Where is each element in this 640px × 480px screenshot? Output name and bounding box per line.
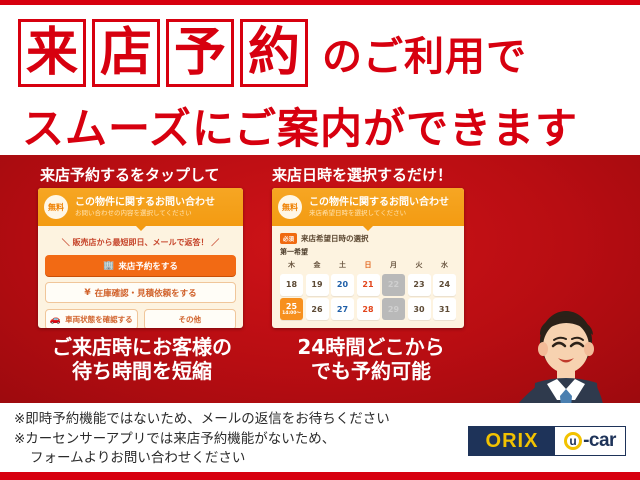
inquiry-header-title: この物件に関するお問い合わせ	[75, 197, 215, 209]
calendar-day-cell[interactable]: 2514:00～	[280, 298, 303, 320]
calendar-day-cell: 29	[382, 298, 405, 320]
calendar-grid[interactable]: 木金土日月火水181920212223242514:00～26272829303…	[280, 260, 456, 320]
calendar-day-number: 29	[388, 305, 399, 314]
calendar-day-number: 26	[311, 305, 322, 314]
car-icon: 🚗	[50, 315, 61, 325]
stock-quote-button[interactable]: ¥ 在庫確認・見積依頼をする	[45, 282, 236, 303]
phone-mockup-calendar: 無料 この物件に関するお問い合わせ 来店希望日時を選択してください 必須 来店希…	[272, 188, 464, 328]
other-label: その他	[179, 314, 202, 325]
hero-headline-tail: のご利用で	[322, 24, 527, 82]
calendar-day-cell[interactable]: 23	[408, 274, 431, 296]
caption-left-line2: 待ち時間を短縮	[22, 359, 262, 383]
calendar-day-cell[interactable]: 26	[306, 298, 329, 320]
caption-left: ご来店時にお客様の 待ち時間を短縮	[22, 335, 262, 384]
orix-wordmark: ORIX	[486, 430, 539, 453]
footer-notes: ※即時予約機能ではないため、メールの返信をお待ちください ※カーセンサーアプリで…	[14, 410, 390, 469]
calendar-day-cell: 22	[382, 274, 405, 296]
calendar-weekday-header: 土	[331, 260, 354, 271]
header-notch	[362, 225, 374, 231]
inquiry-card-header: 無料 この物件に関するお問い合わせ お問い合わせの内容を選択してください	[38, 188, 243, 226]
kanji-box-2: 店	[92, 19, 160, 87]
calendar-day-number: 18	[286, 280, 297, 289]
free-badge: 無料	[278, 195, 302, 219]
calendar-day-time: 14:00～	[282, 312, 301, 317]
caption-right-line2: でも予約可能	[266, 359, 476, 383]
advertisement-banner: 来 店 予 約 のご利用で スムーズにご案内ができます 来店予約するをタップして…	[0, 0, 640, 480]
vehicle-condition-label: 車両状態を確認する	[65, 314, 133, 325]
calendar-card-header: 無料 この物件に関するお問い合わせ 来店希望日時を選択してください	[272, 188, 464, 226]
free-badge: 無料	[44, 195, 68, 219]
kanji-box-1: 来	[18, 19, 86, 87]
red-feature-panel: 来店予約するをタップして 来店日時を選択するだけ！ 無料 この物件に関するお問い…	[0, 155, 640, 403]
calendar-day-cell[interactable]: 18	[280, 274, 303, 296]
reserve-visit-button[interactable]: 🏢 来店予約をする	[45, 255, 236, 276]
calendar-day-number: 21	[362, 280, 373, 289]
ucar-logo-box: u -car	[555, 427, 625, 455]
panel-heading-left: 来店予約するをタップして	[40, 164, 220, 185]
inquiry-header-subtitle: お問い合わせの内容を選択してください	[75, 209, 215, 217]
reserve-visit-label: 来店予約をする	[118, 260, 178, 272]
calendar-weekday-header: 日	[357, 260, 380, 271]
calendar-day-cell[interactable]: 19	[306, 274, 329, 296]
orix-ucar-logo: ORIX u -car	[468, 426, 626, 456]
car-wordmark: -car	[583, 430, 616, 452]
vehicle-condition-button[interactable]: 🚗 車両状態を確認する	[45, 309, 138, 328]
yen-icon: ¥	[84, 288, 90, 298]
calendar-day-number: 23	[413, 280, 424, 289]
calendar-day-cell[interactable]: 20	[331, 274, 354, 296]
calendar-header-subtitle: 来店希望日時を選択してください	[309, 209, 449, 217]
calendar-day-number: 30	[413, 305, 424, 314]
calendar-day-cell[interactable]: 30	[408, 298, 431, 320]
calendar-weekday-header: 木	[280, 260, 303, 271]
calendar-day-number: 22	[388, 280, 399, 289]
calendar-day-number: 27	[337, 305, 348, 314]
calendar-day-number: 25	[286, 302, 297, 311]
kanji-box-3: 予	[166, 19, 234, 87]
u-letter: u	[569, 435, 576, 447]
hero-section: 来 店 予 約 のご利用で スムーズにご案内ができます	[0, 5, 640, 155]
header-notch	[135, 225, 147, 231]
panel-heading-right: 来店日時を選択するだけ！	[272, 164, 452, 185]
calendar-section-label: 来店希望日時の選択	[301, 233, 369, 244]
calendar-day-cell[interactable]: 21	[357, 274, 380, 296]
calendar-weekday-header: 金	[306, 260, 329, 271]
u-circle-icon: u	[564, 432, 582, 450]
hero-headline-line2: スムーズにご案内ができます	[22, 95, 626, 156]
bottom-red-rule	[0, 472, 640, 480]
stock-quote-label: 在庫確認・見積依頼をする	[95, 287, 197, 299]
calendar-weekday-header: 月	[382, 260, 405, 271]
calendar-day-number: 24	[439, 280, 450, 289]
calendar-day-cell[interactable]: 27	[331, 298, 354, 320]
calendar-day-number: 28	[362, 305, 373, 314]
calendar-weekday-header: 火	[408, 260, 431, 271]
calendar-day-cell[interactable]: 28	[357, 298, 380, 320]
calendar-day-number: 31	[439, 305, 450, 314]
preference-label: 第一希望	[280, 247, 456, 257]
inquiry-promo-text: ＼ 販売店から最短即日、メールで返答！ ／	[45, 237, 236, 248]
calendar-header-title: この物件に関するお問い合わせ	[309, 197, 449, 209]
calendar-day-number: 20	[337, 280, 348, 289]
required-badge: 必須	[280, 233, 297, 244]
calendar-day-number: 19	[311, 280, 322, 289]
hero-headline-line1: 来 店 予 約 のご利用で	[18, 13, 622, 93]
footer-note-1: ※即時予約機能ではないため、メールの返信をお待ちください	[14, 410, 390, 430]
caption-right-line1: 24時間どこから	[266, 335, 476, 359]
calendar-day-cell[interactable]: 24	[433, 274, 456, 296]
calendar-day-cell[interactable]: 31	[433, 298, 456, 320]
other-button[interactable]: その他	[144, 309, 237, 328]
footer-note-3: フォームよりお問い合わせください	[14, 449, 390, 469]
kanji-box-4: 約	[240, 19, 308, 87]
store-icon: 🏢	[103, 261, 114, 271]
orix-logo-box: ORIX	[469, 427, 555, 455]
footer-note-2: ※カーセンサーアプリでは来店予約機能がないため、	[14, 430, 390, 450]
calendar-weekday-header: 水	[433, 260, 456, 271]
caption-right: 24時間どこから でも予約可能	[266, 335, 476, 384]
caption-left-line1: ご来店時にお客様の	[22, 335, 262, 359]
phone-mockup-inquiry: 無料 この物件に関するお問い合わせ お問い合わせの内容を選択してください ＼ 販…	[38, 188, 243, 328]
